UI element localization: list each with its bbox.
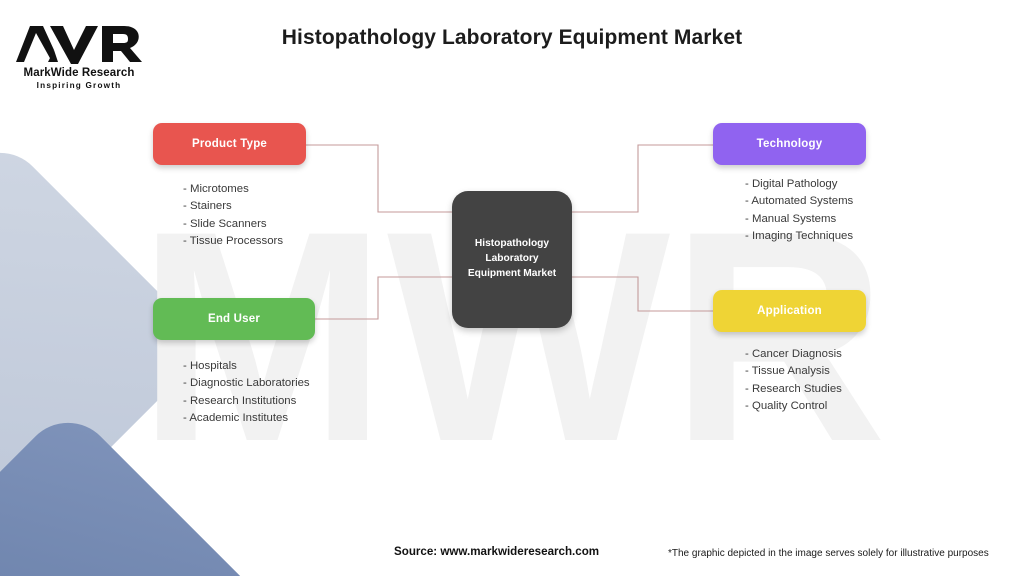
list-item: - Diagnostic Laboratories: [183, 375, 315, 392]
branch-product-type-items: - Microtomes - Stainers - Slide Scanners…: [153, 181, 306, 251]
list-item: - Cancer Diagnosis: [745, 346, 866, 363]
list-item: - Research Institutions: [183, 393, 315, 410]
list-item: - Hospitals: [183, 358, 315, 375]
branch-technology-label: Technology: [757, 138, 823, 150]
connector-technology: [572, 145, 713, 212]
connector-application: [572, 277, 713, 311]
page-title: Histopathology Laboratory Equipment Mark…: [0, 26, 1024, 50]
branch-technology-pill[interactable]: Technology: [713, 123, 866, 165]
brand-name: MarkWide Research: [14, 67, 144, 79]
branch-application-pill[interactable]: Application: [713, 290, 866, 332]
list-item: - Research Studies: [745, 381, 866, 398]
infographic-canvas: MWR MarkWide Research Inspiring Growth H…: [0, 0, 1024, 576]
list-item: - Microtomes: [183, 181, 306, 198]
list-item: - Quality Control: [745, 398, 866, 415]
list-item: - Manual Systems: [745, 211, 866, 228]
branch-end-user-items: - Hospitals - Diagnostic Laboratories - …: [153, 358, 315, 428]
center-node[interactable]: Histopathology Laboratory Equipment Mark…: [452, 191, 572, 328]
list-item: - Automated Systems: [745, 193, 866, 210]
decorative-shape-dark: [0, 404, 280, 576]
branch-end-user: End User - Hospitals - Diagnostic Labora…: [153, 298, 315, 428]
branch-application: Application - Cancer Diagnosis - Tissue …: [713, 290, 866, 416]
branch-end-user-label: End User: [208, 313, 260, 325]
list-item: - Tissue Processors: [183, 233, 306, 250]
brand-tagline: Inspiring Growth: [14, 81, 144, 90]
branch-product-type-pill[interactable]: Product Type: [153, 123, 306, 165]
list-item: - Stainers: [183, 198, 306, 215]
list-item: - Slide Scanners: [183, 216, 306, 233]
branch-end-user-pill[interactable]: End User: [153, 298, 315, 340]
branch-application-items: - Cancer Diagnosis - Tissue Analysis - R…: [713, 346, 866, 416]
list-item: - Academic Institutes: [183, 410, 315, 427]
list-item: - Tissue Analysis: [745, 363, 866, 380]
footer-source: Source: www.markwideresearch.com: [394, 545, 599, 558]
connector-product-type: [306, 145, 452, 212]
branch-product-type-label: Product Type: [192, 138, 267, 150]
branch-technology-items: - Digital Pathology - Automated Systems …: [713, 176, 866, 246]
center-node-label: Histopathology Laboratory Equipment Mark…: [468, 237, 556, 281]
list-item: - Digital Pathology: [745, 176, 866, 193]
list-item: - Imaging Techniques: [745, 228, 866, 245]
branch-application-label: Application: [757, 305, 822, 317]
branch-product-type: Product Type - Microtomes - Stainers - S…: [153, 123, 306, 251]
branch-technology: Technology - Digital Pathology - Automat…: [713, 123, 866, 246]
footer-disclaimer: *The graphic depicted in the image serve…: [668, 548, 989, 559]
connector-end-user: [315, 277, 452, 319]
